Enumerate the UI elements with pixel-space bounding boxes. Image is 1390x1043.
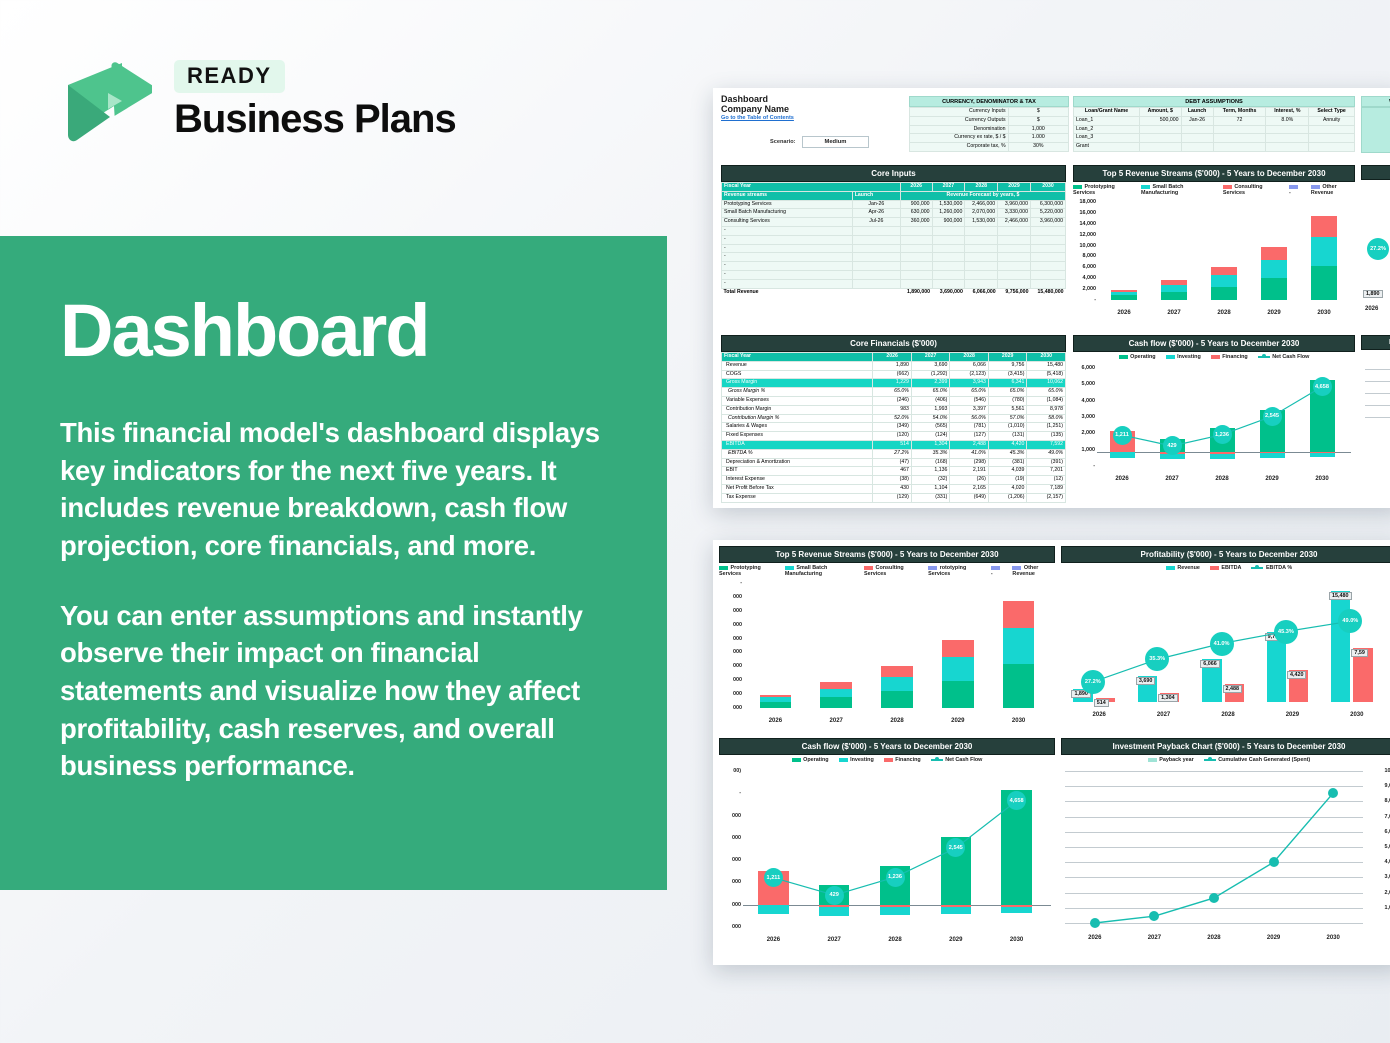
financial-row-value: 9,756: [988, 361, 1027, 370]
dashboard-screenshot-bottom[interactable]: Top 5 Revenue Streams ($'000) - 5 Years …: [713, 540, 1390, 965]
fiscal-year-label: Fiscal Year: [722, 183, 901, 192]
total-revenue-label: Total Revenue: [722, 288, 901, 296]
financial-row-value: 41.0%: [950, 449, 989, 458]
data-bubble: 1,211: [1113, 426, 1132, 445]
financial-row-label: Depreciation & Amortization: [722, 458, 873, 467]
financial-row-value: 52.0%: [873, 414, 912, 423]
currency-denominator-tax-box: CURRENCY, DENOMINATOR & TAX Currency Inp…: [909, 96, 1069, 152]
financial-row: Interest Expense(38)(32)(26)(19)(12): [722, 476, 1066, 485]
legend-item: Cumulative Cash Generated (Spent): [1204, 757, 1310, 763]
y-tick-label: 10,000: [1073, 243, 1096, 249]
debt-cell[interactable]: [1140, 125, 1182, 134]
scenario-label: Scenario:: [770, 139, 796, 145]
page-title: Dashboard: [60, 294, 607, 368]
bar-segment: [1311, 266, 1337, 300]
financial-row: Revenue1,8903,6906,0669,75615,480: [722, 361, 1066, 370]
data-point: [1269, 857, 1279, 867]
financial-row-value: 8,978: [1027, 405, 1066, 414]
year-header: 2027: [932, 183, 965, 192]
financial-row-value: (3,415): [988, 370, 1027, 379]
data-bubble: 27.2%: [1081, 670, 1105, 694]
bar-segment: [1261, 247, 1287, 260]
debt-cell[interactable]: [1266, 134, 1309, 143]
hero-paragraph-2: You can enter assumptions and instantly …: [60, 597, 607, 785]
x-tick-label: 2030: [1303, 935, 1363, 941]
bar-segment: [1111, 290, 1137, 292]
x-tick-label: 2028: [867, 718, 928, 724]
legend-item: Revenue: [1166, 565, 1200, 571]
x-tick-label: 2026: [1099, 310, 1149, 316]
x-tick-label: 2029: [1249, 310, 1299, 316]
debt-header-cell: Amount, $: [1140, 108, 1182, 117]
blank-cell[interactable]: -: [722, 226, 853, 235]
stream-value[interactable]: 1,530,000: [965, 218, 998, 227]
debt-cell[interactable]: [1266, 143, 1309, 152]
financial-row-label: Contribution Margin %: [722, 414, 873, 423]
debt-cell[interactable]: Loan_3: [1074, 134, 1140, 143]
chart-legend: RevenueEBITDAEBITDA %: [1061, 563, 1390, 573]
y-tick-label: 000: [719, 663, 742, 669]
year-header: 2029: [998, 183, 1031, 192]
financial-row-label: Revenue: [722, 361, 873, 370]
core-inputs-blank-row: -: [722, 235, 1066, 244]
stream-value[interactable]: 3,960,000: [1030, 218, 1065, 227]
debt-cell[interactable]: 500,000: [1140, 116, 1182, 125]
debt-cell[interactable]: [1213, 125, 1266, 134]
y-tick-label: 14,000: [1073, 221, 1096, 227]
y-tick-label: 2,000: [1073, 286, 1096, 292]
financial-row: EBITDA5141,3042,4884,4207,592: [722, 440, 1066, 449]
financial-row-label: EBITDA: [722, 440, 873, 449]
bar-segment: [1211, 287, 1237, 300]
debt-header-cell: Select Type: [1309, 108, 1355, 117]
debt-cell[interactable]: [1181, 134, 1213, 143]
data-bubble: 1,236: [886, 868, 905, 887]
debt-cell[interactable]: [1309, 125, 1355, 134]
financial-row: Contribution Margin %52.0%54.0%56.0%57.0…: [722, 414, 1066, 423]
financial-row-value: (47): [873, 458, 912, 467]
chart-legend: OperatingInvestingFinancingNet Cash Flow: [1073, 352, 1355, 362]
financial-row-value: 57.0%: [988, 414, 1027, 423]
legend-item: Consulting Services: [1223, 184, 1279, 196]
x-tick-label: 2027: [1125, 935, 1185, 941]
financial-row-value: (120): [873, 432, 912, 441]
financial-row-value: 3,690: [911, 361, 950, 370]
play-triangle-logo-icon: [60, 55, 152, 147]
bar-segment: [1211, 267, 1237, 275]
financial-row-value: (1,010): [988, 423, 1027, 432]
financial-row: Fixed Expenses(120)(124)(127)(131)(135): [722, 432, 1066, 441]
stream-value[interactable]: 360,000: [900, 218, 932, 227]
y-tick-label: 000: [719, 649, 742, 655]
currency-row: Currency ex rate, $ / $ 1.000: [910, 134, 1069, 143]
financial-row-value: 35.3%: [911, 449, 950, 458]
debt-cell[interactable]: [1140, 134, 1182, 143]
financial-row-value: (780): [988, 396, 1027, 405]
financial-row-value: 7,592: [1027, 440, 1066, 449]
legend-item: rototyping Services: [928, 565, 981, 577]
core-financials-section: Core Financials ($'000) Fiscal Year20262…: [721, 335, 1066, 503]
brand-badge-ready: READY: [174, 60, 285, 93]
working-capital-title: WOR: [1361, 96, 1390, 107]
net-cash-flow-line: [719, 765, 1055, 943]
forecast-label: Revenue Forecast by years, $: [900, 191, 1065, 200]
chart-title: Investment Payback Chart ($'000) - 5 Yea…: [1061, 738, 1390, 755]
chart-cash-flow-bottom[interactable]: Cash flow ($'000) - 5 Years to December …: [719, 738, 1055, 960]
x-tick-label: 2030: [988, 718, 1049, 724]
financial-row-value: (168): [911, 458, 950, 467]
financial-row-value: 3,943: [950, 379, 989, 388]
bar-segment: [1003, 628, 1035, 664]
financial-row-value: (135): [1027, 432, 1066, 441]
bar-segment: [881, 677, 913, 691]
year-header: 2026: [873, 353, 912, 362]
scenario-value[interactable]: Medium: [802, 136, 870, 148]
scenario-selector[interactable]: Scenario: Medium: [770, 136, 869, 148]
core-inputs-blank-row: -: [722, 270, 1066, 279]
financial-row-value: 4,020: [988, 484, 1027, 493]
chart-title: Cash flow ($'000) - 5 Years to December …: [1073, 335, 1355, 352]
financial-row-value: (781): [950, 423, 989, 432]
debt-header-cell: Loan/Grant Name: [1074, 108, 1140, 117]
bar-segment: [881, 666, 913, 677]
y-tick-label: 000: [719, 608, 742, 614]
financial-row-label: Interest Expense: [722, 476, 873, 485]
financial-row: COGS(662)(1,292)(2,123)(3,415)(5,418): [722, 370, 1066, 379]
y-tick-label: 18,000: [1073, 199, 1096, 205]
core-inputs-title: Core Inputs: [721, 165, 1066, 182]
stream-value[interactable]: 6,300,000: [1030, 200, 1065, 209]
financial-row-value: 1,136: [911, 467, 950, 476]
year-header: 2026: [900, 183, 932, 192]
hero-panel: Dashboard This financial model's dashboa…: [0, 236, 667, 890]
blank-cell[interactable]: -: [722, 279, 853, 288]
bar-segment: [942, 657, 974, 680]
y-tick-label: -: [1073, 297, 1096, 303]
sheet-company: Company Name: [721, 104, 794, 114]
debt-cell[interactable]: [1309, 143, 1355, 152]
total-revenue-value: 3,690,000: [932, 288, 965, 296]
financial-row-value: 4,420: [988, 440, 1027, 449]
clipped-chart-fragment-bottom: Inve: [1361, 335, 1390, 429]
bar-segment: [1161, 280, 1187, 285]
financial-row-value: 1,993: [911, 405, 950, 414]
financial-row-value: (298): [950, 458, 989, 467]
chart-title: Profitability ($'000) - 5 Years to Decem…: [1061, 546, 1390, 563]
financial-row-value: (129): [873, 493, 912, 502]
chart-profitability[interactable]: Profitability ($'000) - 5 Years to Decem…: [1061, 546, 1390, 736]
legend-item: -: [991, 565, 1003, 577]
x-tick-label: 2026: [1065, 935, 1125, 941]
currency-row: Denomination 1,000: [910, 125, 1069, 134]
legend-item: Prototyping Services: [1073, 184, 1131, 196]
stream-value[interactable]: 1,530,000: [932, 200, 965, 209]
stream-name[interactable]: Consulting Services: [722, 218, 853, 227]
currency-row: Currency Outputs $: [910, 116, 1069, 125]
financial-row-value: 983: [873, 405, 912, 414]
debt-cell[interactable]: [1309, 134, 1355, 143]
financial-row-value: 1,304: [911, 440, 950, 449]
total-revenue-value: 6,066,000: [965, 288, 998, 296]
currency-row-value[interactable]: 1.000: [1008, 134, 1068, 143]
bar-segment: [1161, 292, 1187, 300]
financial-row-value: 2,165: [950, 484, 989, 493]
currency-row: Currency Inputs $: [910, 108, 1069, 117]
financial-row-value: (246): [873, 396, 912, 405]
legend-item: Other Revenue: [1012, 565, 1055, 577]
stream-value[interactable]: 3,960,000: [998, 200, 1031, 209]
financial-row-value: 27.2%: [873, 449, 912, 458]
legend-item: Operating: [1119, 354, 1156, 360]
brand-name: Business Plans: [174, 97, 456, 142]
core-inputs-blank-row: -: [722, 262, 1066, 271]
debt-cell[interactable]: 8.0%: [1266, 116, 1309, 125]
financial-row-value: 1,104: [911, 484, 950, 493]
financial-row-value: 65.0%: [988, 388, 1027, 397]
chart-revenue-streams-top[interactable]: Top 5 Revenue Streams ($'000) - 5 Years …: [1073, 165, 1355, 325]
data-point: [1209, 893, 1219, 903]
chart-cash-flow-top[interactable]: Cash flow ($'000) - 5 Years to December …: [1073, 335, 1355, 500]
debt-cell[interactable]: [1213, 143, 1266, 152]
debt-cell[interactable]: [1181, 125, 1213, 134]
blank-cell[interactable]: -: [722, 235, 853, 244]
financial-row-value: (131): [988, 432, 1027, 441]
financial-row-value: (391): [1027, 458, 1066, 467]
financial-row-value: (406): [911, 396, 950, 405]
table-of-contents-link[interactable]: Go to the Table of Contents: [721, 115, 794, 121]
legend-item: Small Batch Manufacturing: [1141, 184, 1213, 196]
financial-row-value: (26): [950, 476, 989, 485]
net-cash-flow-line: [1073, 362, 1355, 482]
brand-logo-area: READY Business Plans: [60, 55, 456, 147]
debt-cell[interactable]: Loan_2: [1074, 125, 1140, 134]
currency-row-label: Denomination: [910, 125, 1009, 134]
legend-item: EBITDA %: [1251, 565, 1292, 571]
y-tick-label: -: [719, 580, 742, 586]
stream-value[interactable]: 3,330,000: [998, 209, 1031, 218]
core-inputs-blank-row: -: [722, 244, 1066, 253]
financial-row-value: (381): [988, 458, 1027, 467]
financial-row: Depreciation & Amortization(47)(168)(298…: [722, 458, 1066, 467]
debt-row: Grant: [1074, 143, 1355, 152]
blank-cell[interactable]: -: [722, 262, 853, 271]
legend-item: Financing: [884, 757, 921, 763]
bar-segment: [760, 695, 792, 698]
cumulative-cash-line: [1061, 765, 1390, 943]
financial-row-value: 65.0%: [911, 388, 950, 397]
debt-cell[interactable]: [1266, 125, 1309, 134]
financial-row: Net Profit Before Tax4301,1042,1654,0207…: [722, 484, 1066, 493]
chart-investment-payback[interactable]: Investment Payback Chart ($'000) - 5 Yea…: [1061, 738, 1390, 960]
y-tick-label: 000: [719, 705, 742, 711]
blank-cell[interactable]: -: [722, 270, 853, 279]
legend-item: Net Cash Flow: [931, 757, 983, 763]
financial-row-value: (1,084): [1027, 396, 1066, 405]
debt-header-cell: Launch: [1181, 108, 1213, 117]
bar-segment: [760, 702, 792, 708]
data-label: 1,890: [1363, 290, 1383, 298]
blank-cell[interactable]: -: [722, 244, 853, 253]
x-tick-label: 2029: [1244, 935, 1304, 941]
debt-cell[interactable]: Grant: [1074, 143, 1140, 152]
currency-row-value[interactable]: $: [1008, 108, 1068, 117]
legend-item: Investing: [839, 757, 874, 763]
financial-row-value: (1,251): [1027, 423, 1066, 432]
data-bubble: 41.0%: [1210, 632, 1234, 656]
clipped-chart-fragment-top: 27.2% 1,890 2026: [1361, 165, 1390, 298]
core-financials-header-row: Fiscal Year20262027202820292030: [722, 353, 1066, 362]
financial-row-value: 1,229: [873, 379, 912, 388]
debt-cell[interactable]: [1213, 134, 1266, 143]
stream-value[interactable]: 630,000: [900, 209, 932, 218]
financial-row-label: EBIT: [722, 467, 873, 476]
financial-row-value: 3,397: [950, 405, 989, 414]
debt-cell[interactable]: 72: [1213, 116, 1266, 125]
year-header: 2028: [950, 353, 989, 362]
legend-item: Other Revenue: [1311, 184, 1355, 196]
stream-value[interactable]: 900,000: [932, 218, 965, 227]
dashboard-screenshot-top[interactable]: Dashboard Company Name Go to the Table o…: [713, 88, 1390, 508]
legend-item: Payback year: [1148, 757, 1194, 763]
data-bubble: 429: [825, 886, 844, 905]
year-header: 2030: [1027, 353, 1066, 362]
debt-assumptions-box: DEBT ASSUMPTIONS Loan/Grant NameAmount, …: [1073, 96, 1355, 152]
financial-row-value: 49.0%: [1027, 449, 1066, 458]
financial-row-value: 54.0%: [911, 414, 950, 423]
debt-cell[interactable]: [1140, 143, 1182, 152]
financial-row-label: COGS: [722, 370, 873, 379]
launch-label: Launch: [852, 191, 900, 200]
legend-item: EBITDA: [1210, 565, 1242, 571]
financial-row-value: (565): [911, 423, 950, 432]
financial-row-value: (5,418): [1027, 370, 1066, 379]
stream-value[interactable]: 1,260,000: [932, 209, 965, 218]
debt-cell[interactable]: Annuity: [1309, 116, 1355, 125]
stream-launch[interactable]: Jan-26: [852, 200, 900, 209]
financial-row: Gross Margin %65.0%65.0%65.0%65.0%65.0%: [722, 388, 1066, 397]
bar-segment: [1111, 292, 1137, 295]
currency-row-value[interactable]: 30%: [1008, 143, 1068, 152]
financial-row-value: (38): [873, 476, 912, 485]
hero-paragraph-1: This financial model's dashboard display…: [60, 414, 607, 565]
financial-row-value: (349): [873, 423, 912, 432]
legend-item: -: [1289, 184, 1301, 196]
stream-value[interactable]: 2,070,000: [965, 209, 998, 218]
x-tick-label: 2027: [1149, 310, 1199, 316]
financial-row-value: 6,341: [988, 379, 1027, 388]
financial-row: EBITDA %27.2%35.3%41.0%45.3%49.0%: [722, 449, 1066, 458]
stream-launch[interactable]: Jul-26: [852, 218, 900, 227]
chart-revenue-streams-bottom[interactable]: Top 5 Revenue Streams ($'000) - 5 Years …: [719, 546, 1055, 736]
financial-row-value: 45.3%: [988, 449, 1027, 458]
chart-legend: Prototyping ServicesSmall Batch Manufact…: [719, 563, 1055, 579]
currency-row: Corporate tax, % 30%: [910, 143, 1069, 152]
bar-segment: [942, 681, 974, 709]
financial-row-value: (546): [950, 396, 989, 405]
financial-row-value: (662): [873, 370, 912, 379]
stream-launch[interactable]: Apr-26: [852, 209, 900, 218]
x-tick-label: 2027: [806, 718, 867, 724]
legend-item: Investing: [1166, 354, 1201, 360]
financial-row-value: (19): [988, 476, 1027, 485]
bar-segment: [820, 689, 852, 698]
financial-row-value: (124): [911, 432, 950, 441]
debt-row: Loan_1500,000Jan-26728.0%Annuity: [1074, 116, 1355, 125]
bar-segment: [1003, 601, 1035, 629]
y-tick-label: 000: [719, 677, 742, 683]
financial-row-label: Gross Margin: [722, 379, 873, 388]
data-bubble: 4,658: [1313, 377, 1332, 396]
currency-row-label: Corporate tax, %: [910, 143, 1009, 152]
debt-cell[interactable]: Jan-26: [1181, 116, 1213, 125]
currency-box-title: CURRENCY, DENOMINATOR & TAX: [909, 96, 1069, 107]
stream-name[interactable]: Small Batch Manufacturing: [722, 209, 853, 218]
y-tick-label: 4,000: [1073, 275, 1096, 281]
financial-row-label: EBITDA %: [722, 449, 873, 458]
chart-legend: Prototyping ServicesSmall Batch Manufact…: [1073, 182, 1355, 198]
chart-legend: Payback yearCumulative Cash Generated (S…: [1061, 755, 1390, 765]
financial-row-value: 65.0%: [873, 388, 912, 397]
stream-value[interactable]: 900,000: [900, 200, 932, 209]
financial-row-value: 65.0%: [1027, 388, 1066, 397]
blank-cell[interactable]: -: [722, 253, 853, 262]
stream-name[interactable]: Prototyping Services: [722, 200, 853, 209]
financial-row: Salaries & Wages(349)(565)(781)(1,010)(1…: [722, 423, 1066, 432]
y-tick-label: 000: [719, 691, 742, 697]
total-revenue-value: 15,480,000: [1030, 288, 1065, 296]
financial-row-value: (2,123): [950, 370, 989, 379]
y-tick-label: 000: [719, 622, 742, 628]
core-inputs-row: Small Batch Manufacturing Apr-26630,0001…: [722, 209, 1066, 218]
total-revenue-value: 9,756,000: [998, 288, 1031, 296]
financial-row-label: Salaries & Wages: [722, 423, 873, 432]
x-tick-label: 2030: [1299, 310, 1349, 316]
debt-row: Loan_3: [1074, 134, 1355, 143]
year-header: 2027: [911, 353, 950, 362]
x-tick-label: 2029: [927, 718, 988, 724]
financial-row: Contribution Margin9831,9933,3975,5618,9…: [722, 405, 1066, 414]
debt-box-title: DEBT ASSUMPTIONS: [1073, 96, 1355, 107]
financial-row: Gross Margin1,2292,3993,9436,34110,062: [722, 379, 1066, 388]
data-bubble: 45.3%: [1274, 620, 1298, 644]
financial-row-value: 6,066: [950, 361, 989, 370]
currency-row-value[interactable]: 1,000: [1008, 125, 1068, 134]
financial-row: Tax Expense(129)(331)(649)(1,206)(2,157): [722, 493, 1066, 502]
stream-value[interactable]: 5,220,000: [1030, 209, 1065, 218]
bar-segment: [1003, 664, 1035, 708]
sheet-title: Dashboard: [721, 94, 794, 104]
x-tick-label: 2028: [1199, 310, 1249, 316]
legend-item: Net Cash Flow: [1258, 354, 1310, 360]
financial-row-value: 2,488: [950, 440, 989, 449]
financial-row-value: (331): [911, 493, 950, 502]
data-point: [1090, 918, 1100, 928]
stream-value[interactable]: 2,466,000: [965, 200, 998, 209]
bar-segment: [942, 640, 974, 657]
currency-row-label: Currency Inputs: [910, 108, 1009, 117]
financial-row-value: 58.0%: [1027, 414, 1066, 423]
financial-row-value: (127): [950, 432, 989, 441]
debt-cell[interactable]: [1181, 143, 1213, 152]
chart-legend: OperatingInvestingFinancingNet Cash Flow: [719, 755, 1055, 765]
stream-value[interactable]: 2,466,000: [998, 218, 1031, 227]
core-inputs-subheader-row: Revenue streams Launch Revenue Forecast …: [722, 191, 1066, 200]
legend-item: Consulting Services: [864, 565, 918, 577]
bar-segment: [1261, 260, 1287, 278]
currency-row-value[interactable]: $: [1008, 116, 1068, 125]
debt-cell[interactable]: Loan_1: [1074, 116, 1140, 125]
debt-row: Loan_2: [1074, 125, 1355, 134]
